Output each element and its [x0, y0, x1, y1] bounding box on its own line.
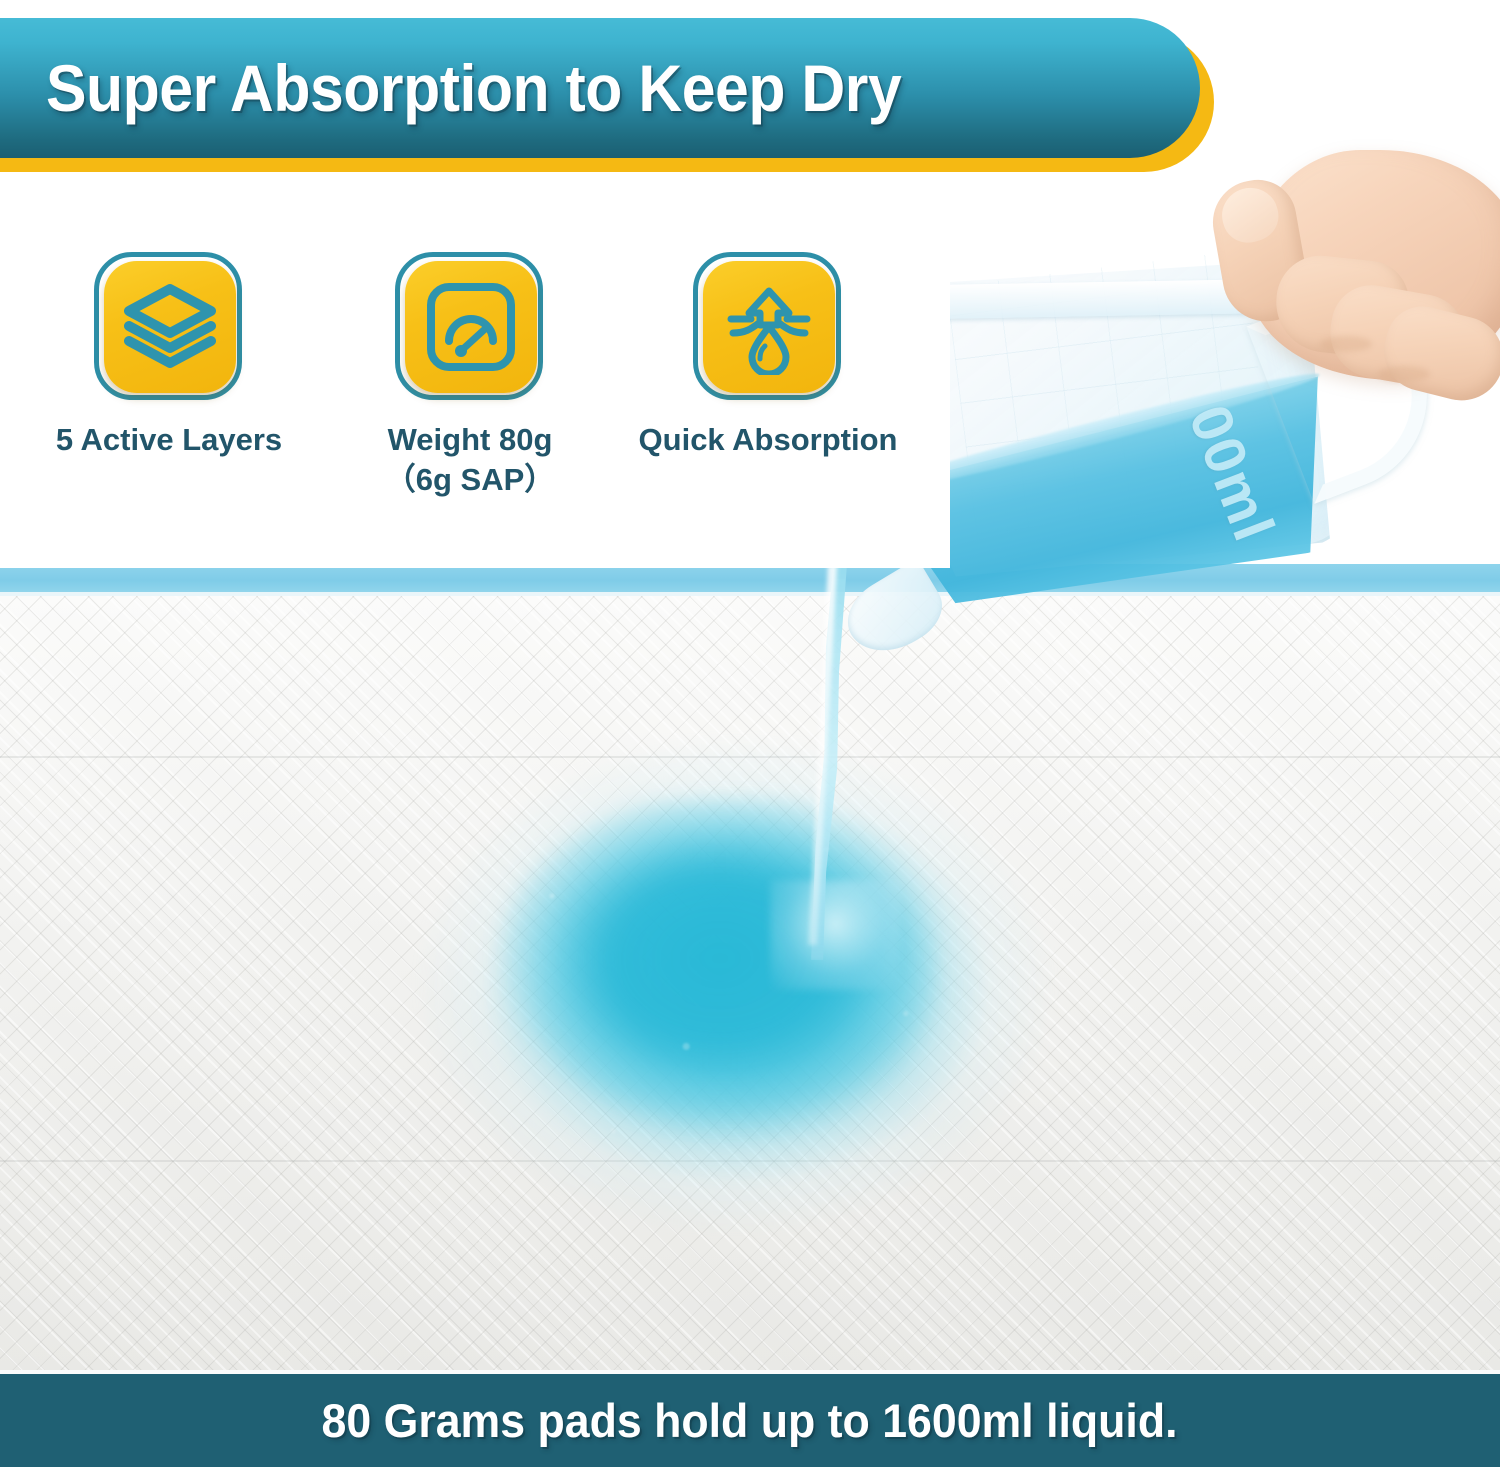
- weight-icon-holder: [395, 252, 545, 402]
- quick-absorption-icon: [721, 279, 817, 375]
- feature-panel: 5 Active Layers: [0, 168, 950, 568]
- feature-label-main: Weight 80g: [388, 422, 553, 457]
- footer-caption: 80 Grams pads hold up to 1600ml liquid.: [322, 1393, 1178, 1448]
- header-banner: Super Absorption to Keep Dry: [0, 18, 1210, 164]
- banner-body: Super Absorption to Keep Dry: [0, 18, 1200, 158]
- feature-item-weight: Weight 80g （6g SAP）: [330, 252, 610, 499]
- feature-label-main: Quick Absorption: [639, 422, 898, 457]
- feature-item-layers: 5 Active Layers: [24, 252, 314, 460]
- footer-bar: 80 Grams pads hold up to 1600ml liquid.: [0, 1374, 1500, 1467]
- feature-list: 5 Active Layers: [0, 168, 950, 568]
- page-title: Super Absorption to Keep Dry: [46, 50, 901, 126]
- feature-item-absorption: Quick Absorption: [608, 252, 928, 460]
- feature-label: Quick Absorption: [608, 420, 928, 460]
- layers-icon-holder: [94, 252, 244, 402]
- liquid-splash: [770, 880, 900, 990]
- weight-gauge-icon: [423, 279, 519, 375]
- feature-label-main: 5 Active Layers: [56, 422, 282, 457]
- absorption-icon-holder: [693, 252, 843, 402]
- human-hand: [1170, 140, 1500, 470]
- icon-tile: [405, 261, 537, 393]
- pouring-vessel-group: 00ml: [880, 150, 1500, 620]
- knuckle-crease: [1320, 336, 1372, 352]
- product-feature-infographic: 00ml Super Absorption to Keep Dry: [0, 0, 1500, 1467]
- icon-tile: [703, 261, 835, 393]
- layers-icon: [121, 281, 219, 373]
- liquid-bubbles: [430, 755, 1040, 1225]
- feature-label: 5 Active Layers: [24, 420, 314, 460]
- feature-label-sub: （6g SAP）: [330, 460, 610, 500]
- knuckle-crease: [1378, 366, 1430, 382]
- feature-label: Weight 80g （6g SAP）: [330, 420, 610, 499]
- icon-tile: [104, 261, 236, 393]
